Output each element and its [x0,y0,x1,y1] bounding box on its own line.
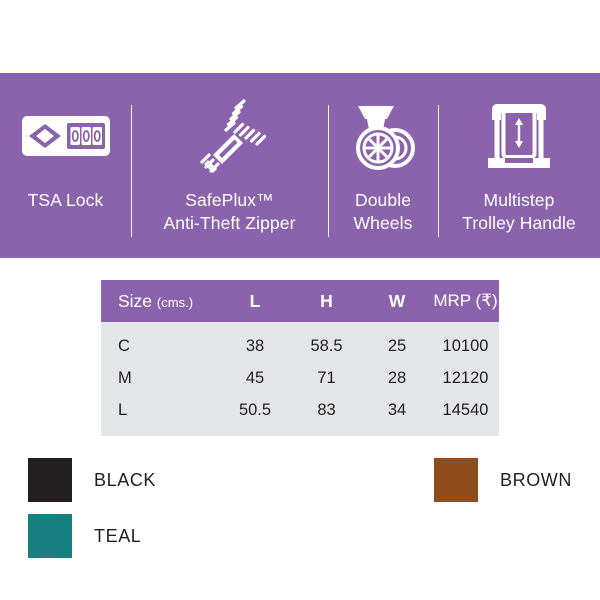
column-header-length: L [219,291,291,312]
cell-length: 38 [219,337,291,356]
color-label-brown: BROWN [500,470,572,491]
feature-label-line: TSA Lock [28,190,104,210]
cell-height: 71 [291,369,362,388]
feature-label-tsa-lock: TSA Lock [28,189,104,212]
table-header-row: Size (cms.) L H W MRP (₹) [101,280,499,322]
feature-item-tsa-lock: TSA Lock [0,73,131,258]
cell-mrp: 10100 [432,337,499,356]
cell-mrp: 12120 [432,369,499,388]
cell-size: C [101,337,219,356]
table-row: L 50.5 83 34 14540 [101,394,499,426]
column-header-mrp: MRP (₹) [432,291,499,311]
feature-label-line: Double [355,190,411,210]
feature-label-line: Trolley Handle [462,213,576,233]
color-label-black: BLACK [94,470,156,491]
cell-size: M [101,369,219,388]
color-chip-black[interactable] [28,458,72,502]
feature-label-line: Anti-Theft Zipper [163,213,295,233]
color-label-teal: TEAL [94,526,141,547]
cell-width: 28 [362,369,432,388]
color-option-black[interactable]: BLACK [28,458,156,502]
feature-label-double-wheels: Double Wheels [354,189,413,235]
table-row: C 38 58.5 25 10100 [101,330,499,362]
color-option-brown[interactable]: BROWN [434,458,572,502]
tsa-lock-icon [21,95,111,177]
feature-item-trolley-handle: Multistep Trolley Handle [438,73,600,258]
anti-theft-zipper-icon [190,95,270,177]
table-row: M 45 71 28 12120 [101,362,499,394]
feature-item-anti-theft-zipper: SafePlux™ Anti-Theft Zipper [131,73,328,258]
color-chip-brown[interactable] [434,458,478,502]
column-header-size: Size (cms.) [101,291,219,312]
double-wheels-icon [347,95,419,177]
column-header-height: H [291,291,362,312]
column-header-size-units: (cms.) [157,295,193,310]
cell-width: 25 [362,337,432,356]
cell-length: 45 [219,369,291,388]
feature-label-trolley-handle: Multistep Trolley Handle [462,189,576,235]
size-price-table: Size (cms.) L H W MRP (₹) C 38 58.5 25 1… [101,280,499,436]
column-header-size-label: Size [118,291,152,311]
feature-label-anti-theft-zipper: SafePlux™ Anti-Theft Zipper [163,189,295,235]
column-header-width: W [362,291,432,312]
cell-height: 83 [291,401,362,420]
feature-label-line: Wheels [354,213,413,233]
cell-height: 58.5 [291,337,362,356]
cell-size: L [101,401,219,420]
feature-item-double-wheels: Double Wheels [328,73,438,258]
feature-label-line: Multistep [484,190,555,210]
cell-mrp: 14540 [432,401,499,420]
table-body: C 38 58.5 25 10100 M 45 71 28 12120 L 50… [101,322,499,436]
cell-length: 50.5 [219,401,291,420]
cell-width: 34 [362,401,432,420]
feature-label-line: SafePlux™ [185,190,273,210]
color-option-teal[interactable]: TEAL [28,514,141,558]
color-chip-teal[interactable] [28,514,72,558]
feature-banner: TSA Lock [0,73,600,258]
trolley-handle-icon [483,95,555,177]
